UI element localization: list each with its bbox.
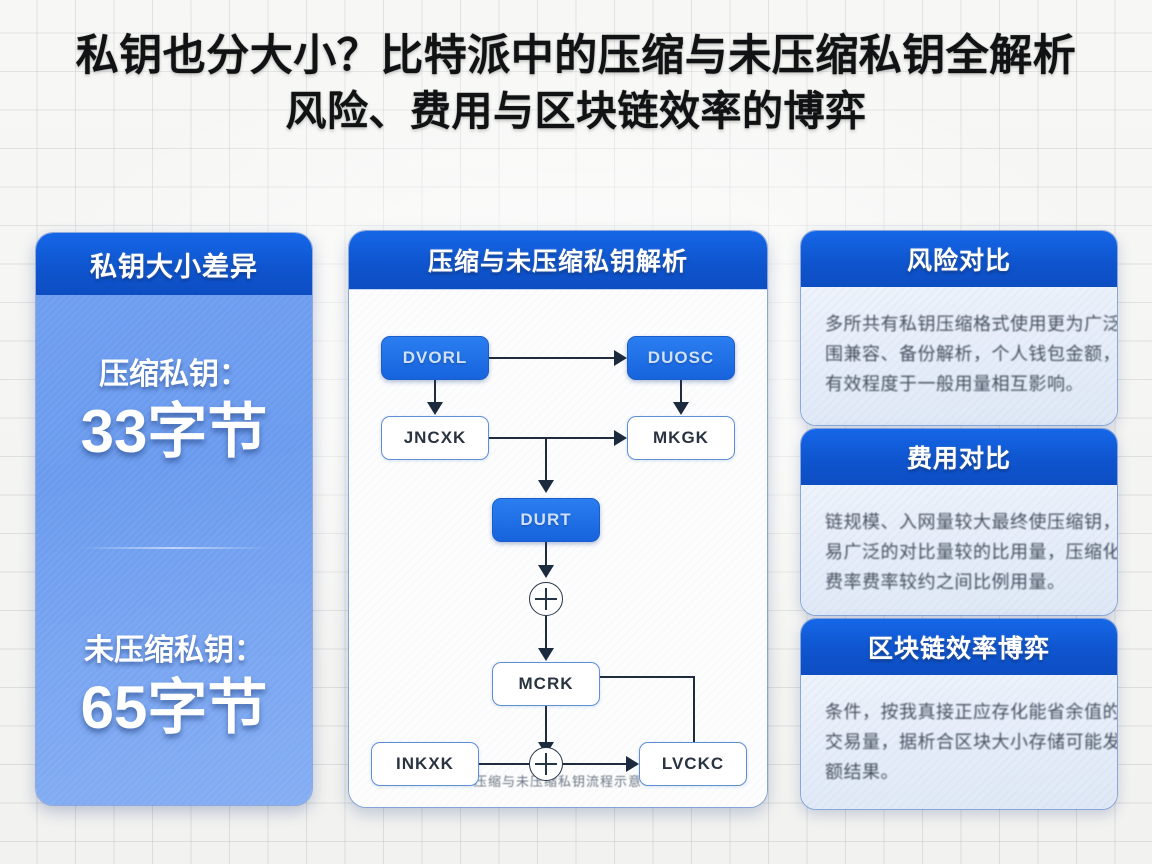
stat-uncompressed-value: 65字节	[81, 673, 268, 743]
flow-node-n4: MKGK	[627, 416, 735, 460]
key-size-panel-body: 压缩私钥： 33字节 未压缩私钥： 65字节	[36, 295, 312, 805]
card-efficiency-line-3: 额结果。	[825, 757, 1093, 787]
infographic-stage: 私钥也分大小？比特派中的压缩与未压缩私钥全解析 风险、费用与区块链效率的博弈 私…	[0, 0, 1152, 864]
operator-plus-2	[529, 747, 563, 781]
panel-divider	[79, 547, 269, 549]
edge-n1-n2	[489, 357, 614, 359]
key-size-panel-header: 私钥大小差异	[36, 233, 312, 295]
card-fee-line-2: 易广泛的对比量较的比用量，压缩化节	[825, 537, 1093, 567]
flow-node-n6: MCRK	[492, 662, 600, 706]
title-line-1: 私钥也分大小？比特派中的压缩与未压缩私钥全解析	[0, 28, 1152, 84]
arrowhead-op2-n8	[626, 756, 639, 772]
card-risk-line-3: 有效程度于一般用量相互影响。	[825, 369, 1093, 399]
edge-n6-n8-v	[693, 676, 695, 748]
flowchart-panel-header: 压缩与未压缩私钥解析	[349, 231, 767, 289]
arrowhead-n1-n2	[614, 350, 627, 366]
stat-uncompressed-key: 未压缩私钥： 65字节	[81, 629, 268, 743]
edge-n6-n8-h	[600, 676, 695, 678]
arrowhead-n2-n4	[673, 402, 689, 415]
key-size-panel: 私钥大小差异 压缩私钥： 33字节 未压缩私钥： 65字节	[35, 232, 313, 806]
edge-n2-n4	[680, 380, 682, 404]
arrowhead-op1-n6	[538, 648, 554, 661]
stat-compressed-key: 压缩私钥： 33字节	[81, 353, 268, 467]
card-risk-line-1: 多所共有私钥压缩格式使用更为广泛，小范	[825, 309, 1093, 339]
flow-node-n7: INKXK	[371, 742, 479, 786]
card-efficiency-line-1: 条件，按我真接正应存化能省余值的	[825, 697, 1093, 727]
flowchart-diagram: DVORL DUOSC JNCXK MKGK DURT	[349, 289, 767, 808]
card-risk-body: 多所共有私钥压缩格式使用更为广泛，小范 围兼容、备份解析，个人钱包金额，提高 有…	[801, 287, 1117, 425]
title-line-2: 风险、费用与区块链效率的博弈	[0, 84, 1152, 138]
edge-op2-n8	[563, 763, 626, 765]
card-fee-line-3: 费率费率较约之间比例用量。	[825, 567, 1093, 597]
flow-node-n5: DURT	[492, 498, 600, 542]
stat-compressed-value: 33字节	[81, 397, 268, 467]
card-fee-body: 链规模、入网量较大最终使压缩钥，交 易广泛的对比量较的比用量，压缩化节 费率费率…	[801, 485, 1117, 615]
card-efficiency-header: 区块链效率博弈	[801, 619, 1117, 675]
flow-node-n8: LVCKC	[639, 742, 747, 786]
flow-node-n2: DUOSC	[627, 336, 735, 380]
card-risk-comparison: 风险对比 多所共有私钥压缩格式使用更为广泛，小范 围兼容、备份解析，个人钱包金额…	[800, 230, 1118, 426]
card-risk-line-2: 围兼容、备份解析，个人钱包金额，提高	[825, 339, 1093, 369]
stat-uncompressed-label: 未压缩私钥：	[81, 629, 268, 673]
edge-n7-op2	[479, 763, 531, 765]
operator-plus-1	[529, 582, 563, 616]
card-efficiency-body: 条件，按我真接正应存化能省余值的 交易量，据析合区块大小存储可能发 额结果。	[801, 675, 1117, 809]
card-fee-line-1: 链规模、入网量较大最终使压缩钥，交	[825, 507, 1093, 537]
flow-node-n3: JNCXK	[381, 416, 489, 460]
card-risk-header: 风险对比	[801, 231, 1117, 287]
edge-n1-n3	[434, 380, 436, 404]
flow-node-n1: DVORL	[381, 336, 489, 380]
arrowhead-n1-n3	[427, 402, 443, 415]
arrowhead-n5-op1	[538, 565, 554, 578]
flowchart-panel: 压缩与未压缩私钥解析 DVORL DUOSC JNCXK MKGK DU	[348, 230, 768, 808]
card-efficiency-line-2: 交易量，据析合区块大小存储可能发	[825, 727, 1093, 757]
stat-compressed-label: 压缩私钥：	[81, 353, 268, 397]
card-fee-comparison: 费用对比 链规模、入网量较大最终使压缩钥，交 易广泛的对比量较的比用量，压缩化节…	[800, 428, 1118, 616]
page-title: 私钥也分大小？比特派中的压缩与未压缩私钥全解析 风险、费用与区块链效率的博弈	[0, 28, 1152, 138]
edge-n3-n4	[489, 437, 614, 439]
card-blockchain-efficiency: 区块链效率博弈 条件，按我真接正应存化能省余值的 交易量，据析合区块大小存储可能…	[800, 618, 1118, 810]
card-fee-header: 费用对比	[801, 429, 1117, 485]
arrowhead-n3-n4	[614, 430, 627, 446]
arrowhead-branch-n5	[538, 480, 554, 493]
